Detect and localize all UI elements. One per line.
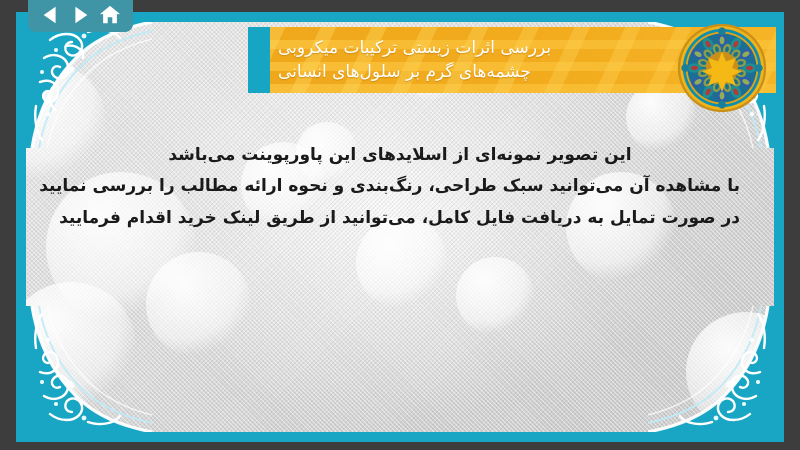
body-line-1: این تصویر نمونه‌ای از اسلایدهای این پاور…	[60, 140, 740, 171]
persian-medallion-icon	[676, 22, 768, 114]
arabesque-corner-top-left	[26, 22, 152, 148]
body-line-2: با مشاهده آن می‌توانید سبک طراحی، رنگ‌بن…	[60, 171, 740, 202]
back-arrow-icon[interactable]	[40, 4, 62, 26]
navigation-toolbar	[28, 0, 133, 32]
forward-arrow-icon[interactable]	[69, 4, 91, 26]
slide-title: بررسی اثرات زیستی ترکیبات میکروبی چشمه‌ه…	[278, 27, 684, 93]
banner-teal-cap	[248, 27, 270, 93]
bokeh-circle	[456, 257, 534, 335]
title-line-1: بررسی اثرات زیستی ترکیبات میکروبی	[278, 36, 551, 60]
slide-viewer: این تصویر نمونه‌ای از اسلایدهای این پاور…	[0, 0, 800, 450]
title-line-2: چشمه‌های گرم بر سلول‌های انسانی	[278, 60, 531, 84]
slide-body-text: این تصویر نمونه‌ای از اسلایدهای این پاور…	[60, 140, 740, 234]
bokeh-circle	[146, 252, 251, 357]
bokeh-circle	[686, 312, 774, 432]
arabesque-corner-bottom-left	[26, 306, 152, 432]
body-line-3: در صورت تمایل به دریافت فایل کامل، می‌تو…	[60, 203, 740, 234]
bokeh-circle	[26, 282, 136, 412]
home-icon[interactable]	[99, 4, 121, 26]
arabesque-corner-bottom-right	[648, 306, 774, 432]
